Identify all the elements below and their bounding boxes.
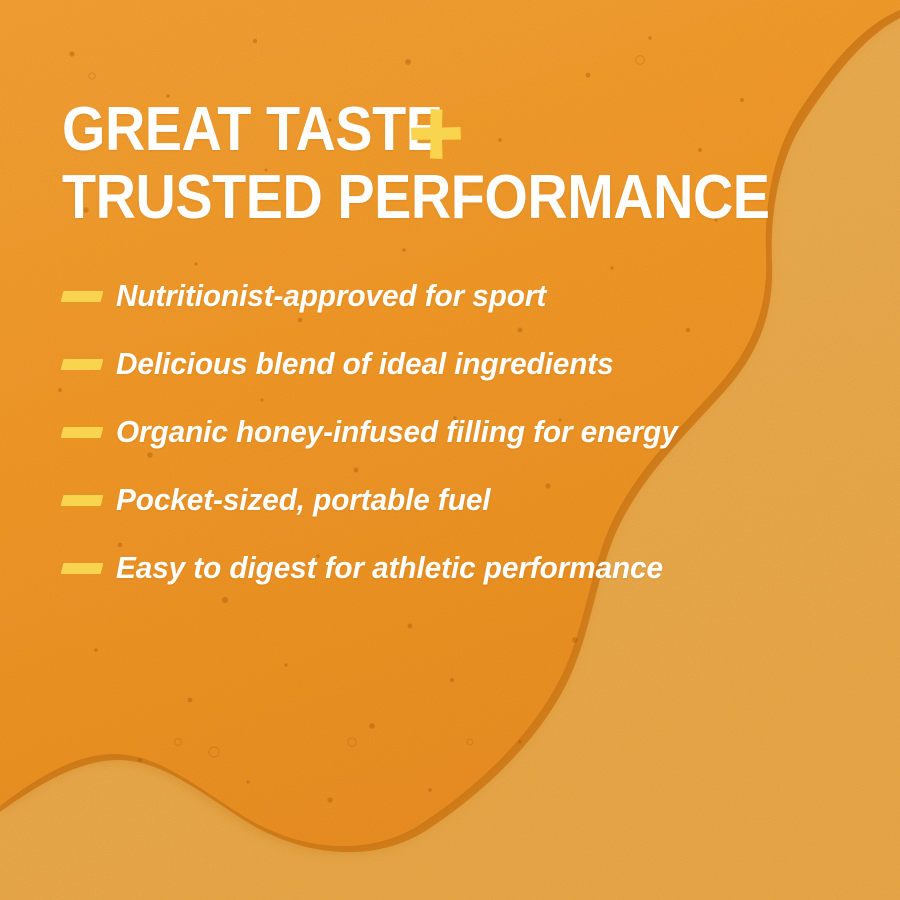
benefit-text: Easy to digest for athletic performance (116, 551, 663, 585)
plus-icon (410, 108, 462, 160)
benefit-text: Pocket-sized, portable fuel (116, 483, 490, 517)
benefit-text: Delicious blend of ideal ingredients (116, 347, 614, 381)
list-item: Delicious blend of ideal ingredients (62, 330, 882, 398)
dash-bullet-icon (61, 563, 104, 574)
list-item: Pocket-sized, portable fuel (62, 466, 882, 534)
promo-poster: GREAT TASTE TRUSTED PERFORMANCE Nutritio… (0, 0, 900, 900)
benefit-text: Nutritionist-approved for sport (116, 279, 546, 313)
dash-bullet-icon (61, 427, 104, 438)
dash-bullet-icon (61, 359, 104, 370)
poster-content: GREAT TASTE TRUSTED PERFORMANCE Nutritio… (0, 0, 900, 900)
benefit-text: Organic honey-infused filling for energy (116, 415, 678, 449)
list-item: Nutritionist-approved for sport (62, 262, 882, 330)
list-item: Easy to digest for athletic performance (62, 534, 882, 602)
dash-bullet-icon (61, 495, 104, 506)
dash-bullet-icon (61, 291, 104, 302)
benefits-list: Nutritionist-approved for sport Deliciou… (62, 262, 882, 602)
headline-line-2: TRUSTED PERFORMANCE (62, 164, 773, 232)
list-item: Organic honey-infused filling for energy (62, 398, 882, 466)
